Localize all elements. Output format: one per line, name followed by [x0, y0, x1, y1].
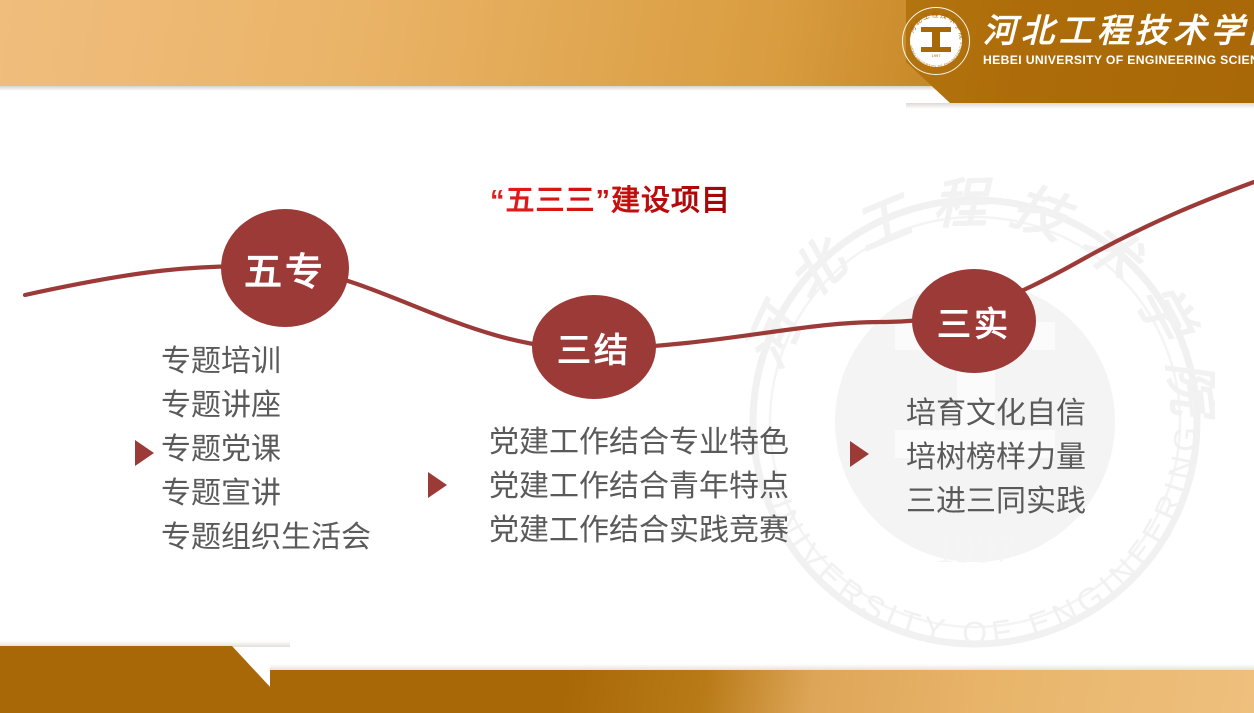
milestone-node-2-label: 三结: [557, 323, 631, 372]
list-item: 培树榜样力量: [906, 436, 1086, 480]
list-item: 党建工作结合专业特色: [489, 421, 789, 465]
list-item: 培育文化自信: [906, 392, 1086, 436]
watermark-arc-en: UNIVERSITY OF ENGINEERING SCIENCE: [735, 122, 1205, 651]
header-banner-tab-shadow: [906, 103, 1254, 109]
list-item: 专题宣讲: [161, 472, 371, 516]
logo-text-block: 河北工程技术学院 HEBEI UNIVERSITY OF ENGINEERING…: [983, 15, 1254, 68]
svg-text:UNIVERSITY OF ENGINEERING SCIE: UNIVERSITY OF ENGINEERING SCIENCE: [735, 122, 1205, 651]
list-item: 党建工作结合青年特点: [489, 465, 789, 509]
logo-title-en: HEBEI UNIVERSITY OF ENGINEERING SCIENCE: [983, 53, 1254, 67]
bullet-arrow-icon-2: [428, 472, 447, 498]
university-logo: 河北工程技术学院 HEBEI UNIVERSITY OF ENGINEERING…: [902, 7, 1254, 75]
footer-right-shadow: [270, 664, 1254, 671]
slide-canvas: 河北工程技术学院 UNIVERSITY OF ENGINEERING SCIEN…: [0, 0, 1254, 713]
watermark-year: 1997: [935, 526, 1015, 571]
list-item: 专题培训: [161, 340, 371, 384]
seal-year-text: 1997: [932, 53, 942, 58]
logo-title-cn: 河北工程技术学院: [983, 15, 1254, 51]
university-seal-icon: 河北工程技术学院 HEBEI UNIVERSITY OF ENGINEERING…: [902, 7, 970, 75]
milestone-node-1-label: 五专: [244, 241, 326, 296]
list-item: 党建工作结合实践竞赛: [489, 509, 789, 553]
bullet-arrow-icon-3: [850, 441, 869, 467]
milestone-node-3[interactable]: 三实: [912, 269, 1036, 373]
milestone-node-1[interactable]: 五专: [221, 209, 349, 327]
milestone-node-3-label: 三实: [937, 297, 1011, 346]
milestone-node-2[interactable]: 三结: [532, 295, 656, 399]
seal-arc-top-text: 河北工程技术学院: [908, 11, 967, 41]
svg-text:河北工程技术学院: 河北工程技术学院: [908, 11, 967, 41]
list-item: 专题组织生活会: [161, 516, 371, 560]
detail-list-2: 党建工作结合专业特色 党建工作结合青年特点 党建工作结合实践竞赛: [489, 421, 789, 553]
list-item: 专题讲座: [161, 384, 371, 428]
detail-list-3: 培育文化自信 培树榜样力量 三进三同实践: [906, 392, 1086, 524]
list-item: 三进三同实践: [906, 480, 1086, 524]
watermark-seal: 河北工程技术学院 UNIVERSITY OF ENGINEERING SCIEN…: [735, 122, 1215, 652]
list-item: 专题党课: [161, 428, 371, 472]
page-title: “五三三”建设项目: [490, 177, 731, 219]
footer-right-band: [270, 670, 1254, 713]
detail-list-1: 专题培训 专题讲座 专题党课 专题宣讲 专题组织生活会: [161, 340, 371, 560]
bullet-arrow-icon-1: [135, 440, 154, 466]
